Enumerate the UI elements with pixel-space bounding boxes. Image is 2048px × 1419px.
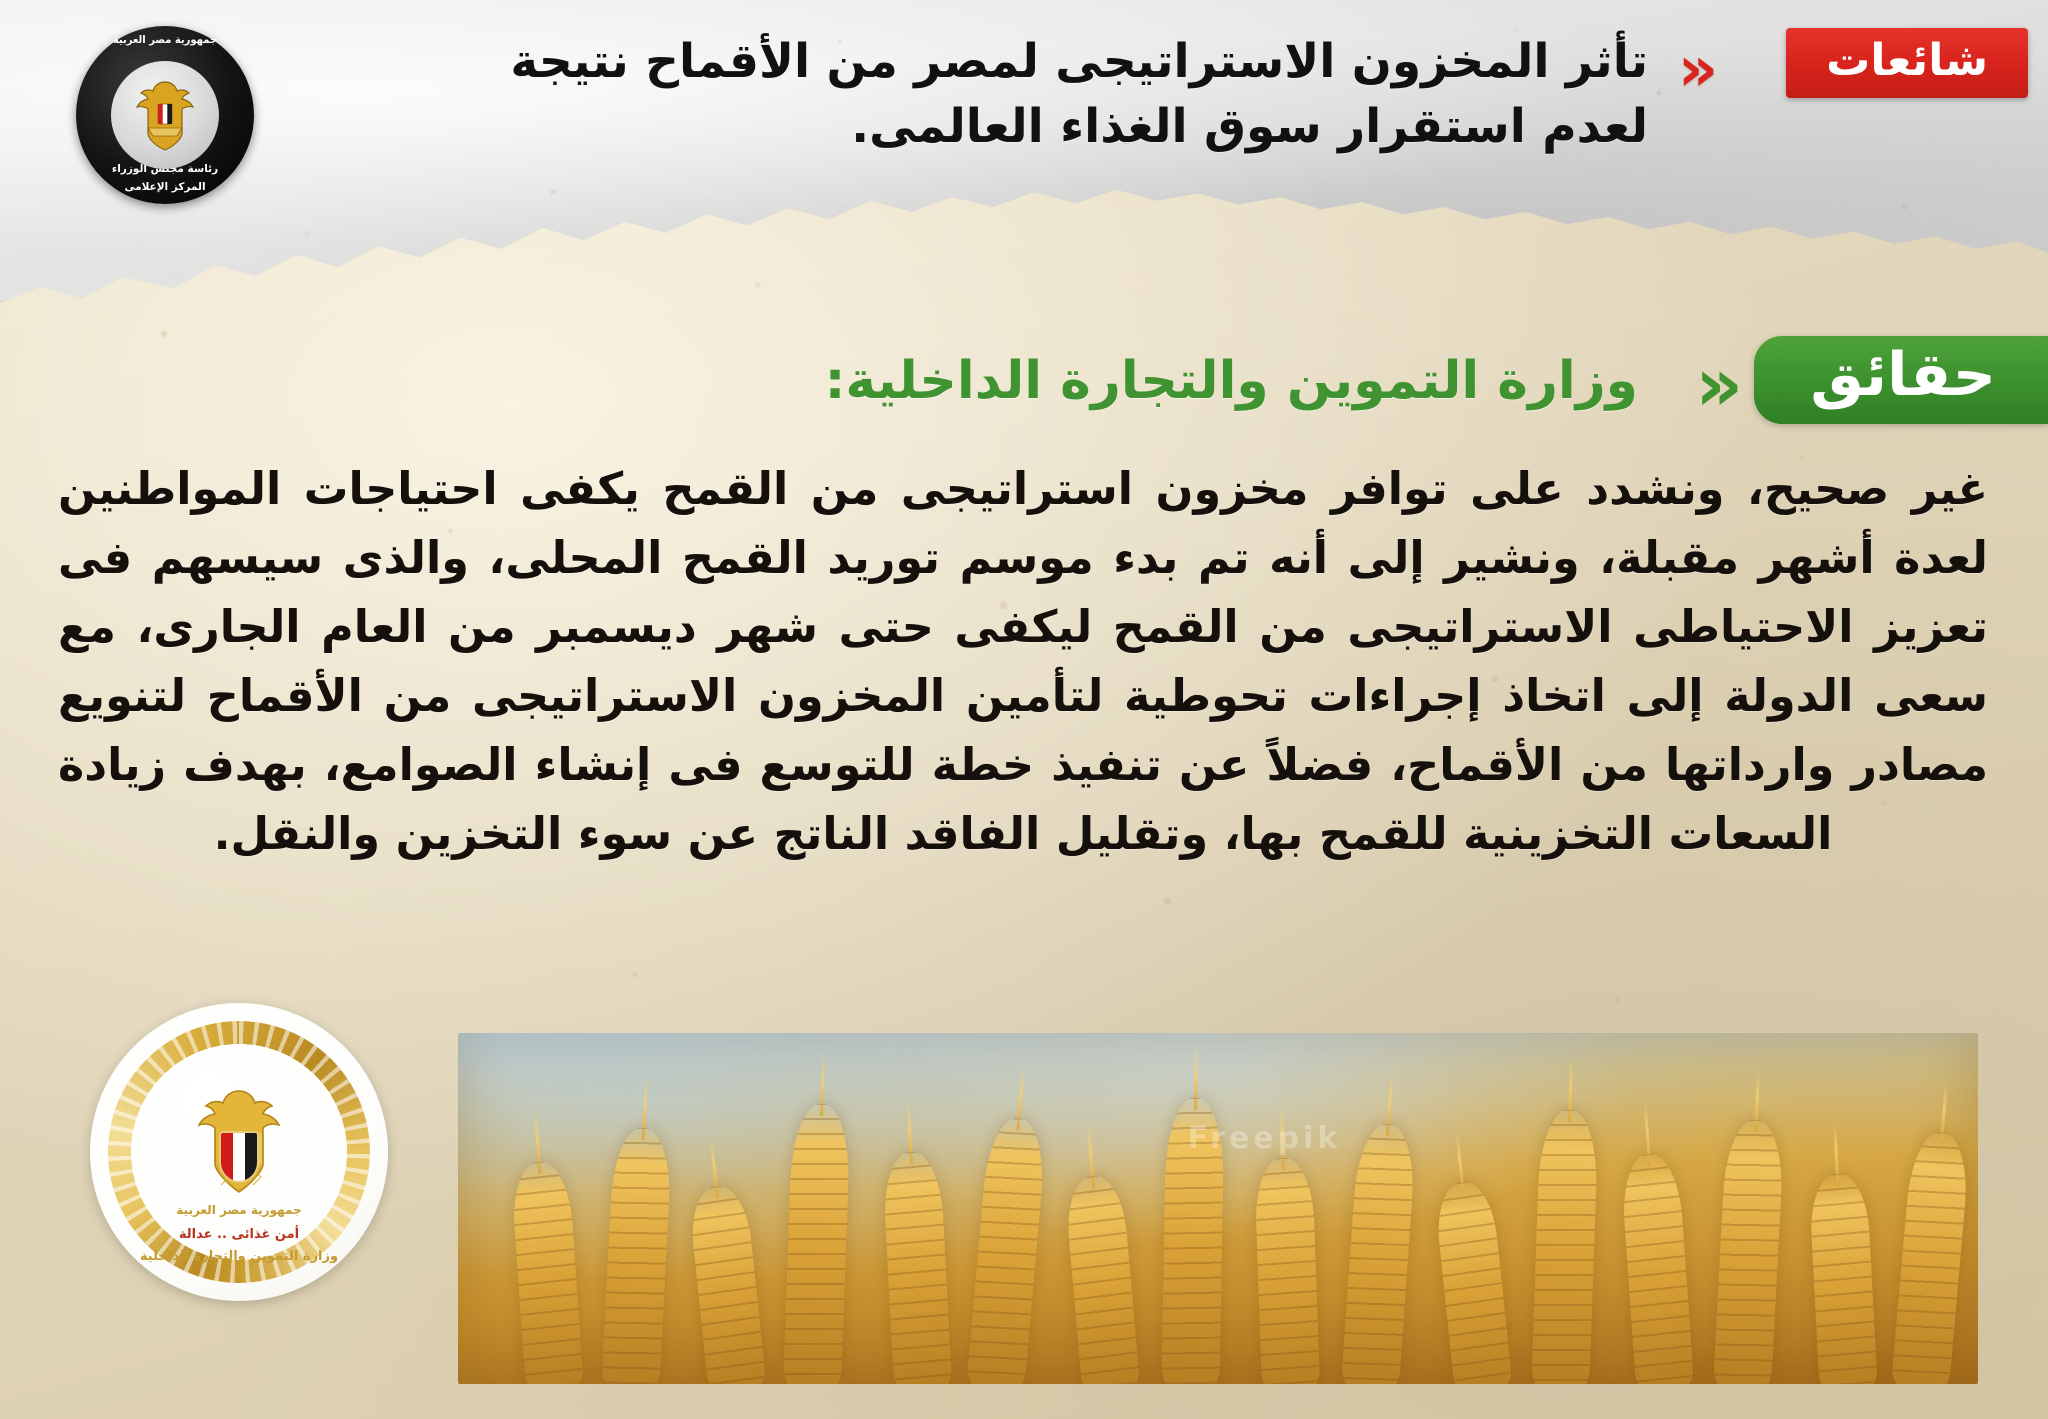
cabinet-media-center-logo: جمهورية مصر العربية رئاسة مجلس الوزراء ا…: [76, 26, 254, 204]
cabinet-eagle-emblem: [111, 61, 219, 169]
facts-body-text: غير صحيح، ونشدد على توافر مخزون استراتيج…: [58, 456, 1988, 870]
ministry-of-supply-logo: جمهورية مصر العربية أمن غذائى .. عدالة و…: [90, 1003, 388, 1301]
ministry-logo-scroll-text: جمهورية مصر العربية: [155, 1203, 323, 1217]
egypt-flag-shield-icon: [219, 1131, 259, 1183]
facts-badge: حقائق: [1754, 336, 2048, 424]
facts-source-label: وزارة التموين والتجارة الداخلية:: [538, 352, 1638, 412]
wheat-field-photo: Freepik: [458, 1033, 1978, 1384]
rumor-badge: شائعات: [1786, 28, 2028, 98]
wheat-ears-group: [458, 1033, 1978, 1384]
rumor-chevron-icon: «: [1678, 38, 1718, 100]
photo-watermark: Freepik: [1188, 1121, 1342, 1156]
cabinet-logo-top-text: جمهورية مصر العربية: [80, 35, 249, 46]
rumor-headline: تأثر المخزون الاستراتيجى لمصر من الأقماح…: [418, 30, 1648, 160]
cabinet-logo-bottom-text-2: المركز الإعلامى: [76, 182, 254, 193]
facts-chevron-icon: «: [1695, 348, 1743, 422]
infographic-canvas: جمهورية مصر العربية رئاسة مجلس الوزراء ا…: [0, 0, 2048, 1419]
ministry-logo-slogan: أمن غذائى .. عدالة: [134, 1227, 344, 1242]
eagle-icon: [122, 72, 208, 158]
ministry-logo-arc-text: وزارة التموين والتجارة الداخلية: [114, 1249, 364, 1264]
